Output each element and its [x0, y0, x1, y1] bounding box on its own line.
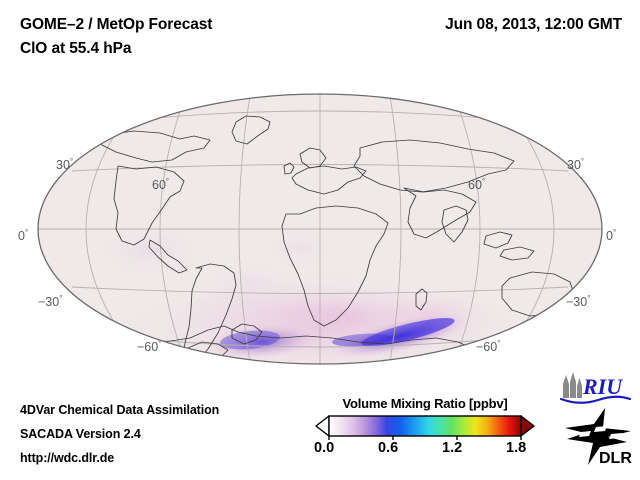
riu-tower-icon — [563, 372, 582, 398]
lat-label-60s: −60° — [137, 340, 161, 354]
riu-logo: RIU — [558, 372, 632, 406]
footer-line-1: 4DVar Chemical Data Assimilation — [20, 403, 219, 417]
lat-label-60n-right: 60° — [468, 178, 485, 192]
lat-label-30n: 30° — [56, 158, 73, 172]
footer-line-2: SACADA Version 2.4 — [20, 427, 141, 441]
footer-line-3: http://wdc.dlr.de — [20, 451, 114, 465]
species-subtitle: ClO at 55.4 hPa — [20, 40, 212, 58]
riu-wordmark: RIU — [582, 374, 623, 399]
colorbar-title: Volume Mixing Ratio [ppbv] — [315, 396, 535, 411]
figure-root: GOME–2 / MetOp Forecast ClO at 55.4 hPa … — [0, 0, 640, 480]
lat-label-60n: 60° — [152, 178, 169, 192]
lat-label-0-right: 0° — [606, 229, 616, 243]
colorbar-gradient — [315, 415, 535, 441]
lat-label-30s-right: −30° — [566, 295, 590, 309]
lat-label-60s-right: −60° — [476, 340, 500, 354]
world-map — [0, 78, 640, 370]
dlr-wordmark: DLR — [599, 450, 632, 466]
instrument-title: GOME–2 / MetOp Forecast — [20, 16, 212, 34]
map-panel: 60° 30° 0° −30° −60° 60° 30° 0° −30° −60… — [0, 78, 640, 370]
lat-label-30n-right: 30° — [567, 158, 584, 172]
colorbar: Volume Mixing Ratio [ppbv] — [315, 396, 535, 466]
datetime-label: Jun 08, 2013, 12:00 GMT — [445, 16, 622, 34]
figure-title: GOME–2 / MetOp Forecast ClO at 55.4 hPa — [20, 16, 212, 58]
colorbar-tick-2: 1.2 — [442, 440, 462, 456]
colorbar-tick-1: 0.6 — [378, 440, 398, 456]
lat-label-0: 0° — [18, 229, 28, 243]
lat-label-30s: −30° — [38, 295, 62, 309]
colorbar-tick-3: 1.8 — [506, 440, 526, 456]
colorbar-tick-0: 0.0 — [314, 440, 334, 456]
dlr-logo: DLR — [563, 408, 635, 466]
